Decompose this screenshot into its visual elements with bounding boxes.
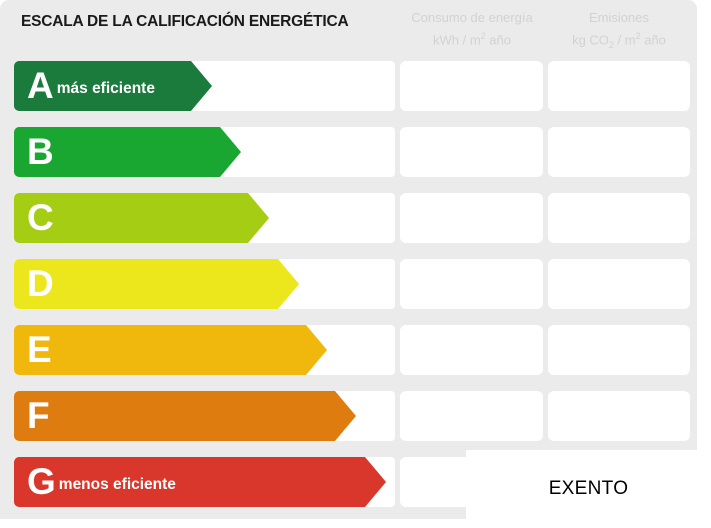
band-content: B (14, 127, 220, 177)
consumo-value-cell (400, 259, 543, 309)
consumo-value-cell (400, 61, 543, 111)
consumo-value-cell (400, 127, 543, 177)
band-arrow-tip (365, 457, 386, 507)
band-letter: A (27, 67, 53, 104)
band-letter: B (27, 133, 53, 170)
energy-band-e: E (14, 325, 306, 375)
consumo-value-cell (400, 193, 543, 243)
energy-band-a: Amás eficiente (14, 61, 191, 111)
energy-band-g: Gmenos eficiente (14, 457, 365, 507)
band-content: Amás eficiente (14, 61, 191, 111)
energy-band-b: B (14, 127, 220, 177)
band-caption: más eficiente (57, 80, 155, 98)
page-title: ESCALA DE LA CALIFICACIÓN ENERGÉTICA (21, 13, 349, 31)
right-margin (697, 0, 711, 528)
column-header-emisiones: Emisiones kg CO2 / m2 año (548, 9, 690, 54)
band-letter: D (27, 265, 53, 302)
band-caption: menos eficiente (59, 476, 176, 494)
band-letter: F (27, 397, 49, 434)
band-content: E (14, 325, 306, 375)
column-header-consumo: Consumo de energía kWh / m2 año (399, 9, 545, 49)
band-content: Gmenos eficiente (14, 457, 365, 507)
band-arrow-tip (278, 259, 299, 309)
column-header-consumo-line1: Consumo de energía (411, 10, 532, 25)
band-arrow-tip (335, 391, 356, 441)
emisiones-value-cell (548, 61, 690, 111)
band-letter: C (27, 199, 53, 236)
energy-band-f: F (14, 391, 335, 441)
energy-band-d: D (14, 259, 278, 309)
column-header-emisiones-line1: Emisiones (589, 10, 649, 25)
energy-rating-panel: ESCALA DE LA CALIFICACIÓN ENERGÉTICA Con… (0, 0, 697, 519)
band-arrow-tip (191, 61, 212, 111)
energy-band-c: C (14, 193, 248, 243)
column-header-emisiones-line2: kg CO2 / m2 año (548, 27, 690, 54)
emisiones-value-cell (548, 193, 690, 243)
emisiones-value-cell (548, 127, 690, 177)
band-content: D (14, 259, 278, 309)
consumo-value-cell (400, 391, 543, 441)
band-arrow-tip (306, 325, 327, 375)
consumo-value-cell (400, 325, 543, 375)
emisiones-value-cell (548, 391, 690, 441)
emisiones-value-cell (548, 259, 690, 309)
band-content: F (14, 391, 335, 441)
exento-label: EXENTO (466, 450, 711, 528)
emisiones-value-cell (548, 325, 690, 375)
exento-overlay: EXENTO (466, 450, 711, 528)
band-content: C (14, 193, 248, 243)
band-arrow-tip (220, 127, 241, 177)
band-arrow-tip (248, 193, 269, 243)
band-letter: E (27, 331, 51, 368)
band-letter: G (27, 463, 55, 500)
panel-header: ESCALA DE LA CALIFICACIÓN ENERGÉTICA Con… (0, 0, 697, 54)
column-header-consumo-line2: kWh / m2 año (399, 27, 545, 49)
